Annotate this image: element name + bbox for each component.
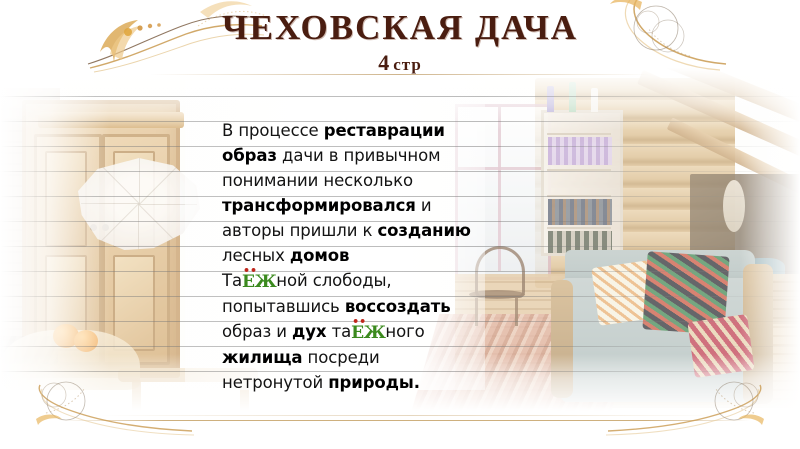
page-number-unit: стр [393, 55, 422, 74]
page-number-label: 4 стр [0, 50, 800, 76]
header-hairline [150, 74, 650, 75]
body-text-bold: дух [292, 322, 326, 341]
body-text-span: авторы пришли к [222, 221, 378, 240]
body-text-span: понимании несколько [222, 171, 413, 190]
page-title: ЧЕХОВСКАЯ ДАЧА [0, 10, 800, 45]
body-text-bold: домов [290, 246, 349, 265]
body-text-line: лесных домов [222, 243, 474, 268]
body-text-line: понимании несколько [222, 168, 474, 193]
body-text-line: трансформировался и [222, 193, 474, 218]
body-text-span: и [416, 196, 432, 215]
body-text-span: Та [222, 271, 242, 290]
body-text-bold: трансформировался [222, 196, 416, 215]
body-text-line: нетронутой природы. [222, 370, 474, 395]
ezh-logo-dots: •• [352, 316, 366, 327]
body-text-bold: созданию [378, 221, 471, 240]
body-text-line: попытавшись воссоздать [222, 294, 474, 319]
body-text-span: ного [385, 322, 424, 341]
body-text-span: посреди [302, 348, 379, 367]
body-text-line: авторы пришли к созданию [222, 218, 474, 243]
footer-rule-secondary [100, 415, 720, 416]
body-text-line: В процессе реставрации [222, 118, 474, 143]
body-text-span: дачи в привычном [277, 146, 441, 165]
body-text-span: нетронутой [222, 373, 328, 392]
body-text-line: ТаЕЖ••ной слободы, [222, 268, 474, 294]
ezh-logo-icon: ЕЖ•• [351, 321, 385, 346]
body-text-bold: природы. [328, 373, 420, 392]
slide-header: ЧЕХОВСКАЯ ДАЧА 4 стр [0, 0, 800, 90]
body-text-line: образ дачи в привычном [222, 143, 474, 168]
body-text-span: та [326, 322, 351, 341]
body-text-span: попытавшись [222, 297, 345, 316]
body-text-span: образ и [222, 322, 292, 341]
ezh-logo-icon: ЕЖ•• [242, 270, 276, 295]
footer-rule [60, 420, 750, 421]
body-text-bold: реставрации [324, 121, 445, 140]
page-number: 4 [378, 50, 389, 75]
body-text-span: В процессе [222, 121, 324, 140]
body-text-span: лесных [222, 246, 290, 265]
ruled-line [0, 96, 800, 97]
body-text: В процессе реставрацииобраз дачи в привы… [222, 118, 474, 395]
slide-canvas: ЧЕХОВСКАЯ ДАЧА 4 стр В процессе реставра… [0, 0, 800, 449]
page-title-text: ЧЕХОВСКАЯ ДАЧА [222, 8, 578, 47]
body-text-bold: жилища [222, 348, 302, 367]
body-text-span: ной слободы, [276, 271, 391, 290]
body-text-bold: образ [222, 146, 277, 165]
body-text-bold: воссоздать [345, 297, 451, 316]
body-text-line: образ и дух таЕЖ••ного [222, 319, 474, 345]
body-text-line: жилища посреди [222, 345, 474, 370]
ezh-logo-dots: •• [243, 265, 257, 276]
